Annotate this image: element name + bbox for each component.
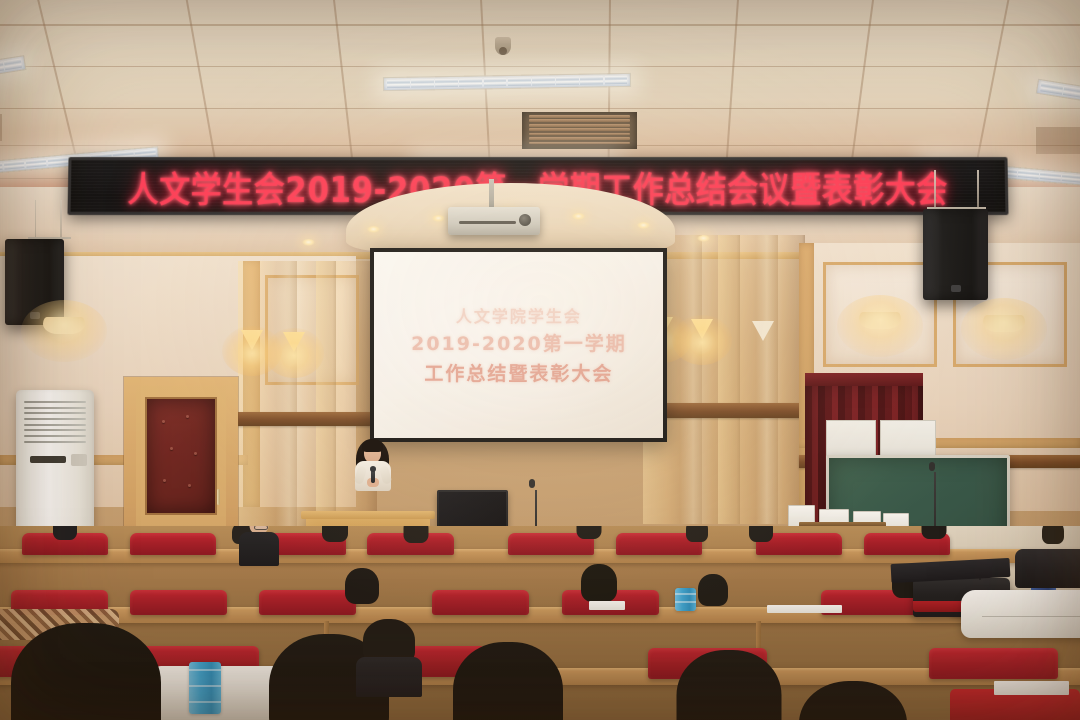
downlight <box>697 235 710 242</box>
ceiling-access-panel-left <box>0 114 2 140</box>
seat[interactable] <box>130 533 216 554</box>
foreground-person-left <box>0 623 205 720</box>
projection-screen-surface: 人文学院学生会 2019-2020第一学期 工作总结暨表彰大会 <box>374 252 663 438</box>
speaker-cable <box>934 170 936 209</box>
audience-person-with-cap <box>216 526 302 563</box>
projector-mount <box>489 179 494 209</box>
door-padded-panel <box>145 397 217 515</box>
wall-sconce-pillar-d-off <box>752 321 774 341</box>
conference-hall-photo: 人文学生会2019-2020第一学期工作总结会议暨表彰大会 <box>0 0 1080 720</box>
foreground-person-right <box>767 681 940 720</box>
floor-mic-head <box>929 462 935 471</box>
projector-lens <box>519 214 531 226</box>
projection-screen-frame: 人文学院学生会 2019-2020第一学期 工作总结暨表彰大会 <box>370 248 667 442</box>
seat[interactable] <box>929 648 1059 679</box>
door-handle[interactable] <box>217 489 220 505</box>
curtain-valance <box>805 373 924 386</box>
backpack-pocket <box>982 616 1080 630</box>
desk-mic-head <box>529 479 535 488</box>
slide-line-1: 人文学院学生会 <box>456 303 582 327</box>
slide-line-3: 工作总结暨表彰大会 <box>424 359 613 386</box>
wall-sconce-left <box>43 317 85 334</box>
papers-on-desk <box>767 605 843 613</box>
wall-sconce-pillar-c <box>691 319 713 339</box>
dark-coat <box>1015 549 1080 588</box>
ac-brand-logo <box>71 454 87 466</box>
audience-person-hands-up <box>324 619 454 685</box>
audience-person <box>389 526 443 549</box>
presenter-hair-top <box>362 439 383 452</box>
ac-grille <box>24 399 86 446</box>
wall-accent-band-left <box>232 412 381 426</box>
speaker-cable <box>35 200 37 239</box>
audience-person <box>907 526 961 547</box>
speaker-cable <box>977 170 979 209</box>
wall-sconce-right-a <box>859 312 901 329</box>
white-backpack <box>961 590 1080 639</box>
wall-pillar <box>756 235 805 524</box>
right-wall-speaker <box>923 209 988 300</box>
speaker-cable <box>60 200 62 239</box>
ceiling-access-panel-right <box>1036 127 1080 153</box>
wall-sconce-left-pillar <box>241 330 263 350</box>
glasses-icon <box>254 526 268 531</box>
audience-person <box>308 526 362 549</box>
downlight <box>637 222 650 229</box>
audience-person <box>324 568 400 619</box>
audience-person <box>734 526 788 549</box>
seat[interactable] <box>432 590 529 615</box>
audience-area <box>0 526 1080 720</box>
blue-water-bottle <box>675 588 696 611</box>
air-vent <box>522 112 637 149</box>
wall-sconce-pillar-a <box>283 332 305 352</box>
audience-person <box>562 526 616 547</box>
podium-top-edge <box>301 511 435 519</box>
handheld-microphone <box>371 470 375 483</box>
tissue-pack <box>589 601 626 610</box>
seat[interactable] <box>130 590 227 615</box>
ceiling-projector <box>448 207 540 235</box>
audience-person <box>38 526 92 547</box>
ac-display-panel[interactable] <box>30 456 66 463</box>
slide-line-2: 2019-2020第一学期 <box>411 329 627 356</box>
wall-sconce-right-b <box>983 315 1025 332</box>
white-cloth <box>994 681 1070 695</box>
audience-person <box>670 526 724 549</box>
audience-person <box>1026 526 1080 551</box>
